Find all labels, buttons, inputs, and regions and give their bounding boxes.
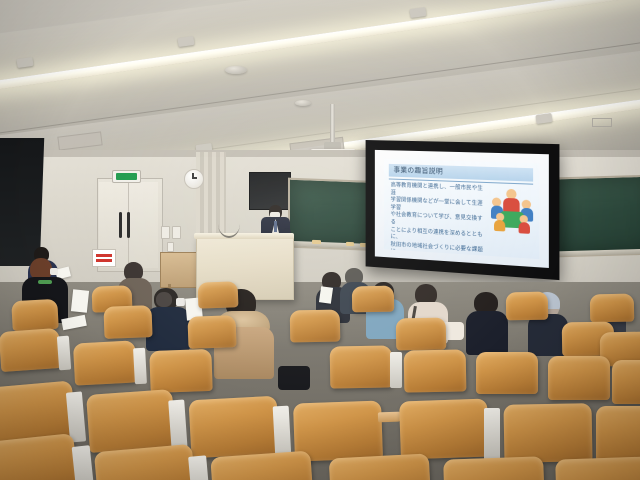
lecture-seat[interactable] [330, 345, 393, 388]
seat-back [443, 456, 545, 480]
lecture-seat[interactable] [187, 315, 236, 349]
seat-side-panel [273, 406, 292, 459]
slide-illustration [491, 188, 534, 235]
lecture-seat[interactable] [590, 294, 634, 323]
lecture-seat[interactable] [189, 396, 280, 459]
seat-back [352, 286, 394, 313]
seat-back [476, 352, 538, 394]
lecture-seat[interactable] [612, 360, 640, 404]
presentation-slide: 事業の趣旨説明 高等教育機関と連携し、一般市民や生涯 学習関係機関などが一堂に会… [384, 159, 539, 259]
lecture-seat[interactable] [0, 328, 61, 372]
lecture-seat[interactable] [596, 406, 640, 464]
lecture-seat[interactable] [103, 305, 152, 339]
seat-back [0, 433, 79, 480]
lectern-top [194, 233, 294, 239]
slide-body-text: 高等教育機関と連携し、一般市民や生涯 学習関係機関などが一堂に会して生涯学習 や… [391, 182, 488, 259]
lecture-seat[interactable] [399, 398, 489, 459]
seat-back [0, 328, 61, 372]
wall-clock-icon [184, 169, 204, 189]
exit-sign [112, 170, 141, 183]
seat-back [189, 396, 280, 459]
lecture-seat[interactable] [329, 453, 432, 480]
seat-back [11, 299, 59, 331]
door-handle[interactable] [119, 212, 122, 238]
seat-side-panel [133, 348, 147, 385]
projector-mount-pole [330, 104, 335, 144]
lecture-seat[interactable] [198, 281, 239, 308]
seat-back [504, 403, 593, 463]
seat-back [86, 389, 176, 453]
seat-back [187, 315, 236, 349]
seat-side-panel [57, 336, 71, 371]
exit-sign-icon [116, 173, 137, 180]
smoke-detector-icon [225, 66, 247, 74]
seat-side-panel [484, 408, 500, 460]
person-body [466, 311, 508, 355]
seat-back [548, 356, 610, 400]
seat-side-panel [390, 352, 402, 388]
lecture-seat[interactable] [548, 356, 610, 400]
ceiling-fixture [592, 118, 612, 127]
handout-paper [319, 286, 333, 304]
lecture-hall-photo: 事業の趣旨説明 高等教育機関と連携し、一般市民や生涯 学習関係機関などが一堂に会… [0, 0, 640, 480]
lecture-seat[interactable] [506, 292, 548, 321]
wall-speaker [249, 172, 291, 210]
lecture-seat[interactable] [443, 456, 545, 480]
lecture-seat[interactable] [504, 403, 593, 463]
seat-back [396, 318, 447, 351]
seat-back [329, 453, 432, 480]
lecture-seat[interactable] [11, 299, 59, 331]
seat-back [612, 360, 640, 404]
light-clip [535, 113, 552, 124]
chalk-eraser [312, 240, 321, 244]
seat-back [590, 294, 634, 323]
person-body [146, 307, 190, 351]
seat-back [404, 349, 467, 392]
notice-line [96, 259, 112, 262]
lecture-seat[interactable] [404, 349, 467, 392]
seat-back [103, 305, 152, 339]
seat-back [73, 340, 137, 385]
seat-back [596, 406, 640, 464]
lecture-seat[interactable] [0, 433, 79, 480]
light-switch-plate[interactable] [172, 226, 181, 239]
face-mask [50, 268, 58, 275]
lecture-seat[interactable] [73, 340, 137, 385]
chalk-eraser [346, 242, 354, 246]
door-handle[interactable] [127, 212, 130, 238]
lanyard [38, 280, 52, 284]
person-head [156, 292, 172, 307]
seat-back [290, 310, 341, 343]
projection-screen: 事業の趣旨説明 高等教育機関と連携し、一般市民や生涯 学習関係機関などが一堂に会… [366, 140, 560, 280]
handout-paper [71, 289, 89, 313]
lecture-seat[interactable] [290, 310, 341, 343]
lecture-seat[interactable] [352, 286, 394, 313]
face-mask [176, 298, 185, 306]
light-switch-plate[interactable] [161, 226, 170, 239]
exit-door-right[interactable] [129, 182, 158, 268]
slide-body-line: ついて考える機会とする。 [391, 256, 488, 259]
lecture-seat[interactable] [149, 349, 212, 393]
presenter-tie [274, 221, 277, 232]
lecture-seat[interactable] [396, 318, 447, 351]
wall-outlet [167, 242, 174, 252]
seat-back [330, 345, 393, 388]
notice-line [96, 254, 112, 257]
handbag [278, 366, 310, 390]
seat-back [198, 281, 239, 308]
seat-back [149, 349, 212, 393]
seat-back [506, 292, 548, 321]
wall-notice-sign [92, 249, 116, 267]
slide-title: 事業の趣旨説明 [393, 165, 443, 176]
lecture-seat[interactable] [86, 389, 176, 453]
lecture-seat[interactable] [555, 456, 640, 480]
smoke-detector-icon [295, 100, 311, 106]
screen-surface: 事業の趣旨説明 高等教育機関と連携し、一般市民や生涯 学習関係機関などが一堂に会… [375, 150, 549, 268]
seat-back [555, 456, 640, 480]
lecture-seat[interactable] [476, 352, 538, 394]
seat-armrest [378, 412, 400, 423]
figure-body [519, 222, 530, 234]
seat-back [399, 398, 489, 459]
chalkboard-right [556, 175, 640, 258]
figure-body [494, 220, 505, 232]
clock-hand-minute [192, 177, 197, 179]
